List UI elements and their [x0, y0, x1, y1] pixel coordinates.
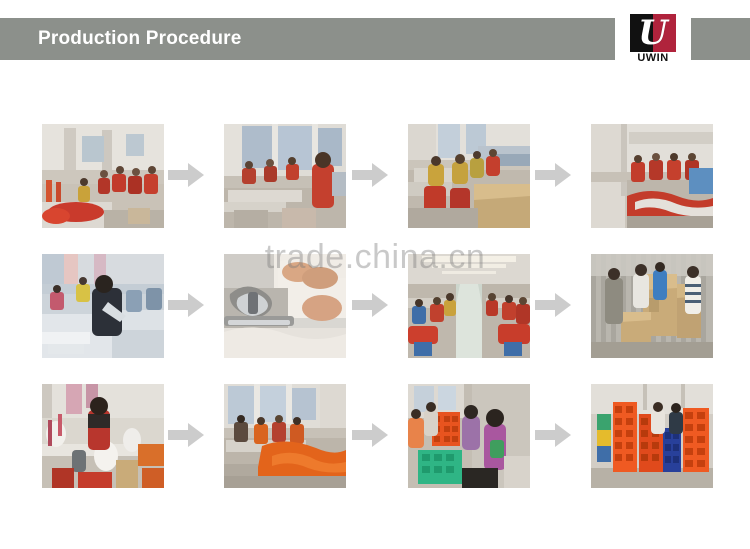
procedure-grid — [0, 100, 750, 549]
photo-scene — [408, 254, 530, 358]
photo-crate-sorting[interactable] — [408, 384, 530, 488]
photo-finished-racks[interactable] — [591, 124, 713, 228]
photo-inspection-bench[interactable] — [408, 124, 530, 228]
photo-pattern-marking[interactable] — [42, 254, 164, 358]
procedure-step[interactable] — [591, 124, 713, 228]
arrow-right-icon — [352, 422, 388, 448]
logo-u-glyph: U — [630, 14, 676, 52]
procedure-step[interactable] — [408, 254, 530, 358]
procedure-row — [0, 124, 750, 228]
procedure-step[interactable] — [224, 254, 346, 358]
uwin-logo: U UWIN — [625, 12, 681, 68]
uwin-logo-mark-icon: U — [630, 14, 676, 52]
photo-scene — [408, 384, 530, 488]
photo-assembly-line[interactable] — [408, 254, 530, 358]
header-bar-right-segment — [691, 18, 750, 60]
photo-scene — [42, 254, 164, 358]
photo-scene — [408, 124, 530, 228]
procedure-row — [0, 254, 750, 358]
uwin-logo-wordmark: UWIN — [625, 52, 681, 64]
arrow-right-icon — [352, 292, 388, 318]
photo-cutting-line[interactable] — [42, 124, 164, 228]
photo-machine-closeup[interactable] — [224, 254, 346, 358]
photo-scene — [224, 384, 346, 488]
photo-scene — [591, 124, 713, 228]
photo-scene — [224, 254, 346, 358]
arrow-right-icon — [535, 162, 571, 188]
arrow-right-icon — [168, 422, 204, 448]
photo-orange-garments[interactable] — [224, 384, 346, 488]
arrow-right-icon — [352, 162, 388, 188]
photo-crate-storage[interactable] — [591, 384, 713, 488]
page-title: Production Procedure — [38, 18, 242, 60]
photo-scene — [224, 124, 346, 228]
photo-scene — [591, 384, 713, 488]
arrow-right-icon — [168, 292, 204, 318]
procedure-step[interactable] — [224, 124, 346, 228]
procedure-step[interactable] — [408, 384, 530, 488]
procedure-step[interactable] — [591, 254, 713, 358]
procedure-row — [0, 384, 750, 488]
arrow-right-icon — [535, 292, 571, 318]
procedure-step[interactable] — [224, 384, 346, 488]
photo-overlock-station[interactable] — [42, 384, 164, 488]
photo-scene — [42, 124, 164, 228]
arrow-right-icon — [535, 422, 571, 448]
procedure-step[interactable] — [591, 384, 713, 488]
procedure-step[interactable] — [408, 124, 530, 228]
procedure-step[interactable] — [42, 254, 164, 358]
arrow-right-icon — [168, 162, 204, 188]
photo-scene — [42, 384, 164, 488]
photo-carton-packing[interactable] — [591, 254, 713, 358]
procedure-step[interactable] — [42, 384, 164, 488]
procedure-step[interactable] — [42, 124, 164, 228]
photo-scene — [591, 254, 713, 358]
photo-sewing-tables[interactable] — [224, 124, 346, 228]
